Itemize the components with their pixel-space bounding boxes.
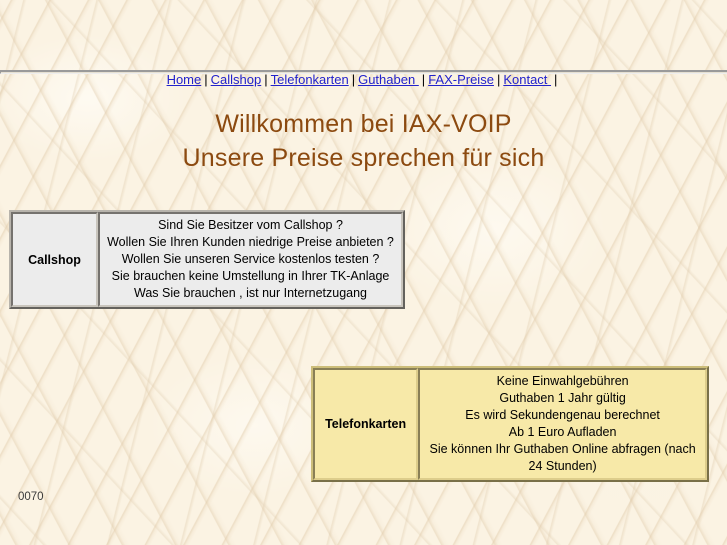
nav-separator-trailing: |	[551, 72, 560, 87]
list-item: Wollen Sie unseren Service kostenlos tes…	[106, 251, 395, 268]
list-item: Ab 1 Euro Aufladen	[426, 424, 699, 441]
nav-separator: |	[494, 72, 503, 87]
list-item: Es wird Sekundengenau berechnet	[426, 407, 699, 424]
nav-link-callshop[interactable]: Callshop	[211, 72, 262, 87]
page-root: Home|Callshop|Telefonkarten|Guthaben |FA…	[0, 0, 727, 545]
telefonkarten-info-table: Telefonkarten Keine Einwahlgebühren Guth…	[311, 366, 709, 482]
nav-link-guthaben[interactable]: Guthaben	[358, 72, 419, 87]
list-item: Sie brauchen keine Umstellung in Ihrer T…	[106, 268, 395, 285]
list-item: Wollen Sie Ihren Kunden niedrige Preise …	[106, 234, 395, 251]
nav-separator: |	[419, 72, 428, 87]
callshop-label-cell: Callshop	[11, 212, 98, 307]
nav-link-home[interactable]: Home	[167, 72, 202, 87]
callshop-body-cell: Sind Sie Besitzer vom Callshop ? Wollen …	[98, 212, 403, 307]
telefonkarten-body-cell: Keine Einwahlgebühren Guthaben 1 Jahr gü…	[418, 368, 707, 480]
telefonkarten-label-cell: Telefonkarten	[313, 368, 418, 480]
footer-code: 0070	[18, 491, 44, 503]
nav-link-telefonkarten[interactable]: Telefonkarten	[271, 72, 349, 87]
list-item: Sind Sie Besitzer vom Callshop ?	[106, 217, 395, 234]
callshop-info-table: Callshop Sind Sie Besitzer vom Callshop …	[9, 210, 405, 309]
nav-separator: |	[349, 72, 358, 87]
page-title: Willkommen bei IAX-VOIP Unsere Preise sp…	[0, 107, 727, 175]
list-item: Was Sie brauchen , ist nur Internetzugan…	[106, 285, 395, 302]
table-row: Telefonkarten Keine Einwahlgebühren Guth…	[313, 368, 707, 480]
page-title-line-2: Unsere Preise sprechen für sich	[0, 141, 727, 175]
table-row: Callshop Sind Sie Besitzer vom Callshop …	[11, 212, 403, 307]
nav-separator: |	[261, 72, 270, 87]
nav-link-kontact[interactable]: Kontact	[503, 72, 551, 87]
nav-separator: |	[201, 72, 210, 87]
list-item: Sie können Ihr Guthaben Online abfragen …	[426, 441, 699, 475]
main-navigation: Home|Callshop|Telefonkarten|Guthaben |FA…	[0, 72, 727, 87]
nav-link-fax-preise[interactable]: FAX-Preise	[428, 72, 494, 87]
list-item: Keine Einwahlgebühren	[426, 373, 699, 390]
list-item: Guthaben 1 Jahr gültig	[426, 390, 699, 407]
page-title-line-1: Willkommen bei IAX-VOIP	[0, 107, 727, 141]
